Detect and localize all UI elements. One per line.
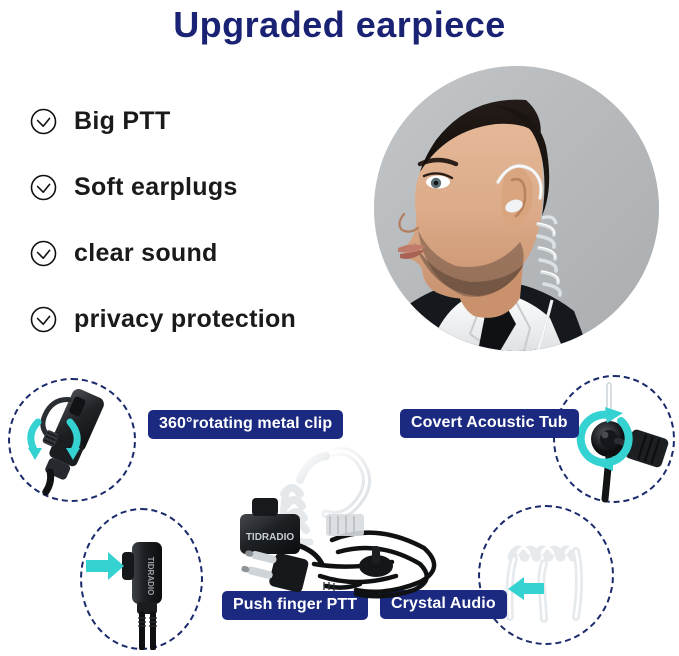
feature-item-privacy-protection: privacy protection	[30, 286, 390, 352]
callout-art-covert-acoustic-tub	[553, 375, 675, 503]
svg-text:TIDRADIO: TIDRADIO	[146, 557, 155, 596]
feature-item-soft-earplugs: Soft earplugs	[30, 154, 390, 220]
callout-art-push-finger-ptt: TIDRADIO	[80, 508, 203, 650]
feature-label: clear sound	[74, 239, 218, 268]
product-brand-text: TIDRADIO	[246, 532, 295, 543]
check-circle-icon	[30, 306, 57, 333]
feature-label: Big PTT	[74, 107, 171, 136]
feature-label: Soft earplugs	[74, 173, 238, 202]
feature-item-big-ptt: Big PTT	[30, 88, 390, 154]
callout-label-covert-acoustic-tub[interactable]: Covert Acoustic Tub	[400, 409, 579, 438]
check-circle-icon	[30, 108, 57, 135]
callout-art-crystal-audio	[478, 505, 614, 645]
product-photo: TIDRADIO	[228, 436, 458, 651]
callout-art-rotating-metal-clip	[8, 378, 136, 502]
infographic-page: Upgraded earpiece Big PTT Soft earplugs	[0, 0, 679, 656]
portrait-photo	[374, 66, 659, 351]
page-title: Upgraded earpiece	[0, 4, 679, 46]
feature-label: privacy protection	[74, 305, 296, 334]
callout-label-rotating-metal-clip[interactable]: 360°rotating metal clip	[148, 410, 343, 439]
feature-item-clear-sound: clear sound	[30, 220, 390, 286]
check-circle-icon	[30, 240, 57, 267]
feature-list: Big PTT Soft earplugs clear sound	[30, 88, 390, 352]
check-circle-icon	[30, 174, 57, 201]
